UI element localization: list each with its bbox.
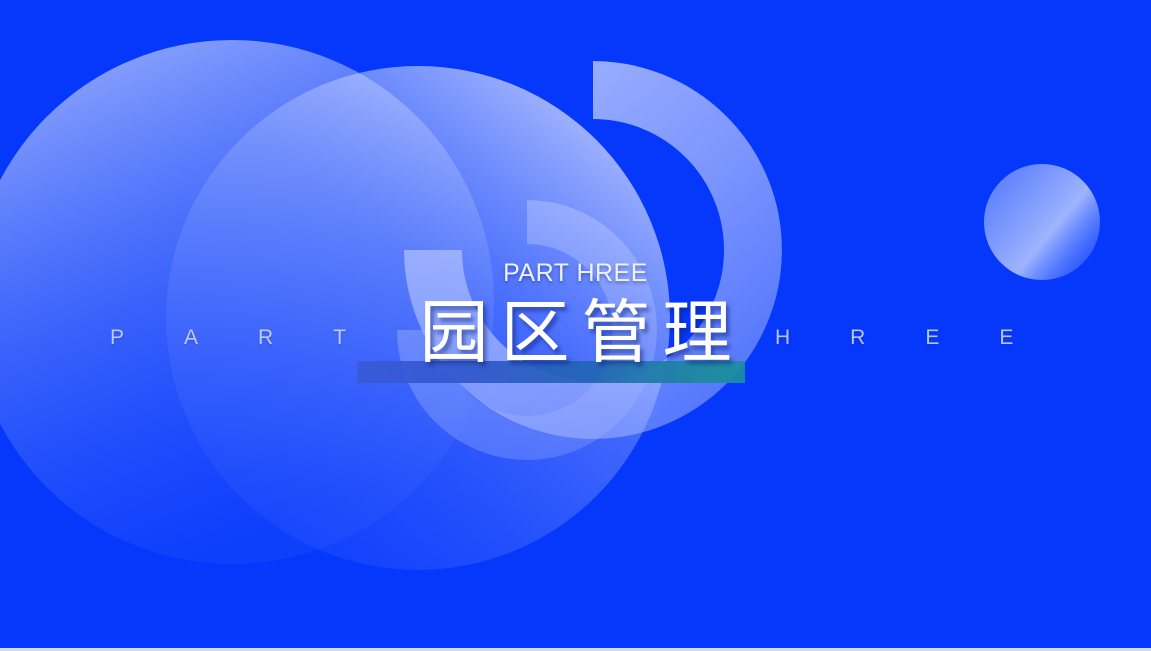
decor-letter: P [110, 318, 126, 358]
decor-letter: E [999, 318, 1015, 358]
circle-shape-small-right [984, 164, 1100, 280]
presentation-slide: PART HREE PART HREE 园区管理 [0, 0, 1151, 651]
decor-letter: R [258, 318, 275, 358]
decor-letter: A [184, 318, 200, 358]
decorative-letters-left: PART [110, 318, 348, 358]
decor-letter: H [775, 318, 792, 358]
title-accent-band [357, 361, 745, 383]
decor-letter: R [850, 318, 867, 358]
decor-letter: E [925, 318, 941, 358]
decorative-letters-right: HREE [775, 318, 1015, 358]
decor-letter: T [333, 318, 348, 358]
